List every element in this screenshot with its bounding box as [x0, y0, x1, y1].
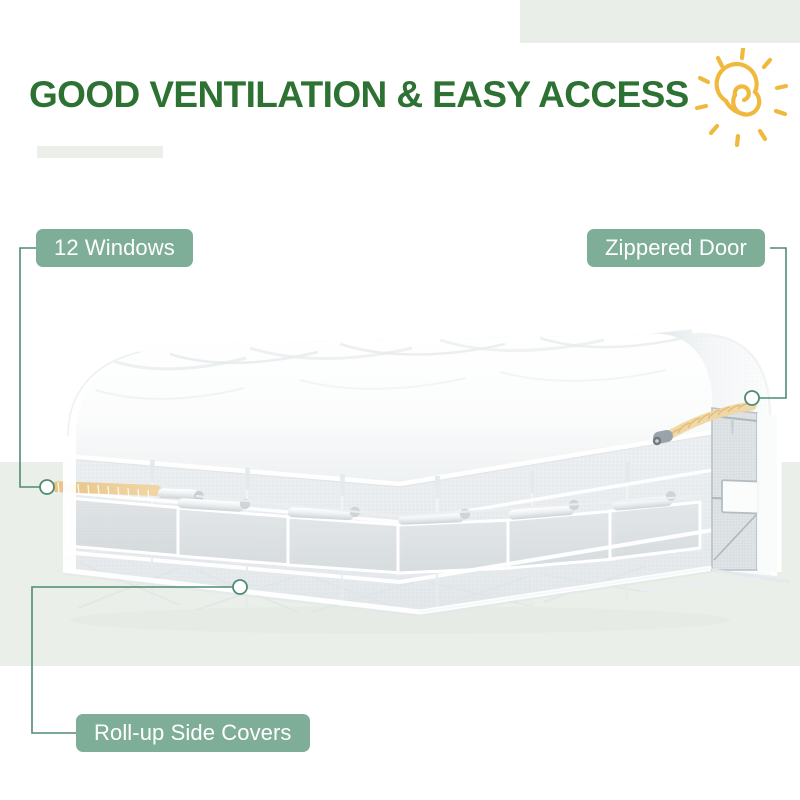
callout-label-rollup: Roll-up Side Covers	[94, 722, 292, 744]
sun-icon	[686, 48, 792, 154]
callout-label-windows: 12 Windows	[54, 237, 175, 259]
page-title: GOOD VENTILATION & EASY ACCESS	[29, 76, 689, 113]
decorative-bar-under-headline	[37, 146, 163, 158]
callout-label-door: Zippered Door	[605, 237, 747, 259]
greenhouse-body	[0, 320, 800, 660]
callout-badge-door: Zippered Door	[587, 229, 765, 267]
decorative-block-top-right	[520, 0, 800, 43]
greenhouse-illustration	[0, 320, 800, 660]
callout-badge-rollup: Roll-up Side Covers	[76, 714, 310, 752]
infographic-canvas: GOOD VENTILATION & EASY ACCESS 12 Window…	[0, 0, 800, 800]
door-window-pane	[722, 480, 758, 513]
callout-badge-windows: 12 Windows	[36, 229, 193, 267]
